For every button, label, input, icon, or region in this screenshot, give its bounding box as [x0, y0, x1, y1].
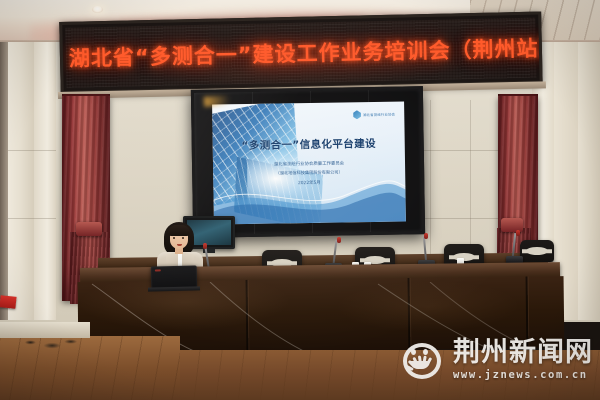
led-banner: 湖北省“多测合一”建设工作业务培训会（荆州站）	[59, 11, 542, 93]
slide-title: “多测合一”信息化平台建设	[213, 135, 405, 153]
ceiling-downlight-secondary	[92, 6, 103, 13]
slide-organization-logo: 湖北省测绘行业协会	[353, 110, 395, 120]
logo-eye-right	[423, 349, 428, 355]
watermark-text: 荆州新闻网 www.jznews.com.cn	[453, 339, 593, 380]
wall-seam	[8, 218, 56, 219]
wall-seam-vertical	[470, 100, 471, 260]
logo-eye-left	[411, 349, 416, 355]
wall-seam	[8, 150, 56, 151]
table-name-card	[0, 295, 17, 309]
slide-logo-text: 湖北省测绘行业协会	[363, 112, 395, 118]
presenter-hair-front	[168, 225, 190, 236]
curtain-tieback-right	[501, 218, 523, 232]
wall-right-section	[578, 42, 600, 320]
laptop-logo-icon	[155, 269, 161, 271]
wall-seam-vertical	[430, 100, 431, 260]
floor-cable-bundle	[18, 336, 80, 352]
microphone-head	[516, 230, 520, 236]
presentation-slide: 湖北省测绘行业协会 “多测合一”信息化平台建设 湖北省测绘行业协会质量工作委员会…	[212, 101, 406, 224]
wall-pilaster-left-2	[34, 42, 56, 320]
watermark-site-name: 荆州新闻网	[453, 339, 593, 367]
curtain-tieback-left	[76, 222, 102, 236]
slide-logo-mark-icon	[353, 110, 361, 119]
microphone-head	[424, 233, 428, 239]
screen-edge-light-flare	[204, 95, 231, 107]
wall-pilaster-left-1	[8, 42, 34, 320]
watermark: 荆州新闻网 www.jznews.com.cn	[398, 336, 593, 384]
conference-room-photo: 湖北省“多测合一”建设工作业务培训会（荆州站）	[0, 0, 600, 400]
microphone-head	[337, 237, 341, 243]
conference-chair	[520, 240, 554, 262]
watermark-url: www.jznews.com.cn	[453, 369, 593, 381]
smiling-sun-logo-icon	[398, 336, 446, 384]
